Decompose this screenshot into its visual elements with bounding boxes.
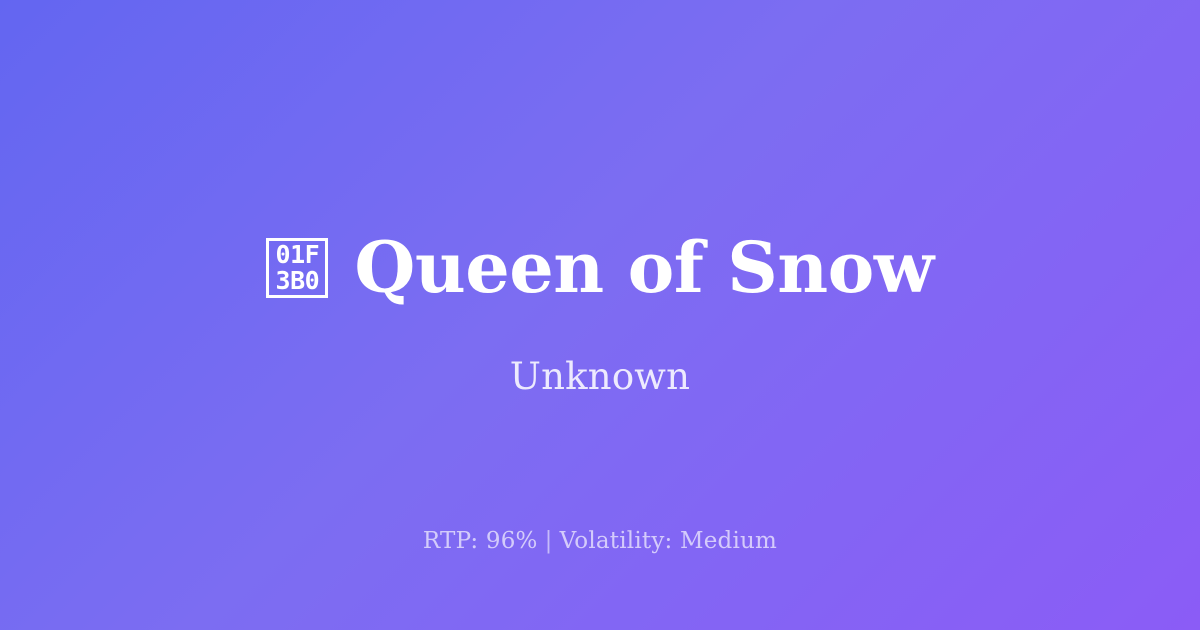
game-title: Queen of Snow <box>354 233 933 303</box>
game-provider: Unknown <box>510 355 690 398</box>
game-preview-card: 01F 3B0 Queen of Snow Unknown RTP: 96%|V… <box>0 0 1200 630</box>
game-stats: RTP: 96%|Volatility: Medium <box>0 528 1200 554</box>
slot-machine-icon-codepoint-bottom: 3B0 <box>276 268 320 294</box>
slot-machine-icon: 01F 3B0 <box>266 238 328 298</box>
title-row: 01F 3B0 Queen of Snow <box>266 233 933 303</box>
slot-machine-icon-codepoint-top: 01F <box>276 242 320 268</box>
rtp-value: RTP: 96% <box>423 528 538 554</box>
stats-separator: | <box>538 528 560 554</box>
volatility-value: Volatility: Medium <box>560 528 777 554</box>
